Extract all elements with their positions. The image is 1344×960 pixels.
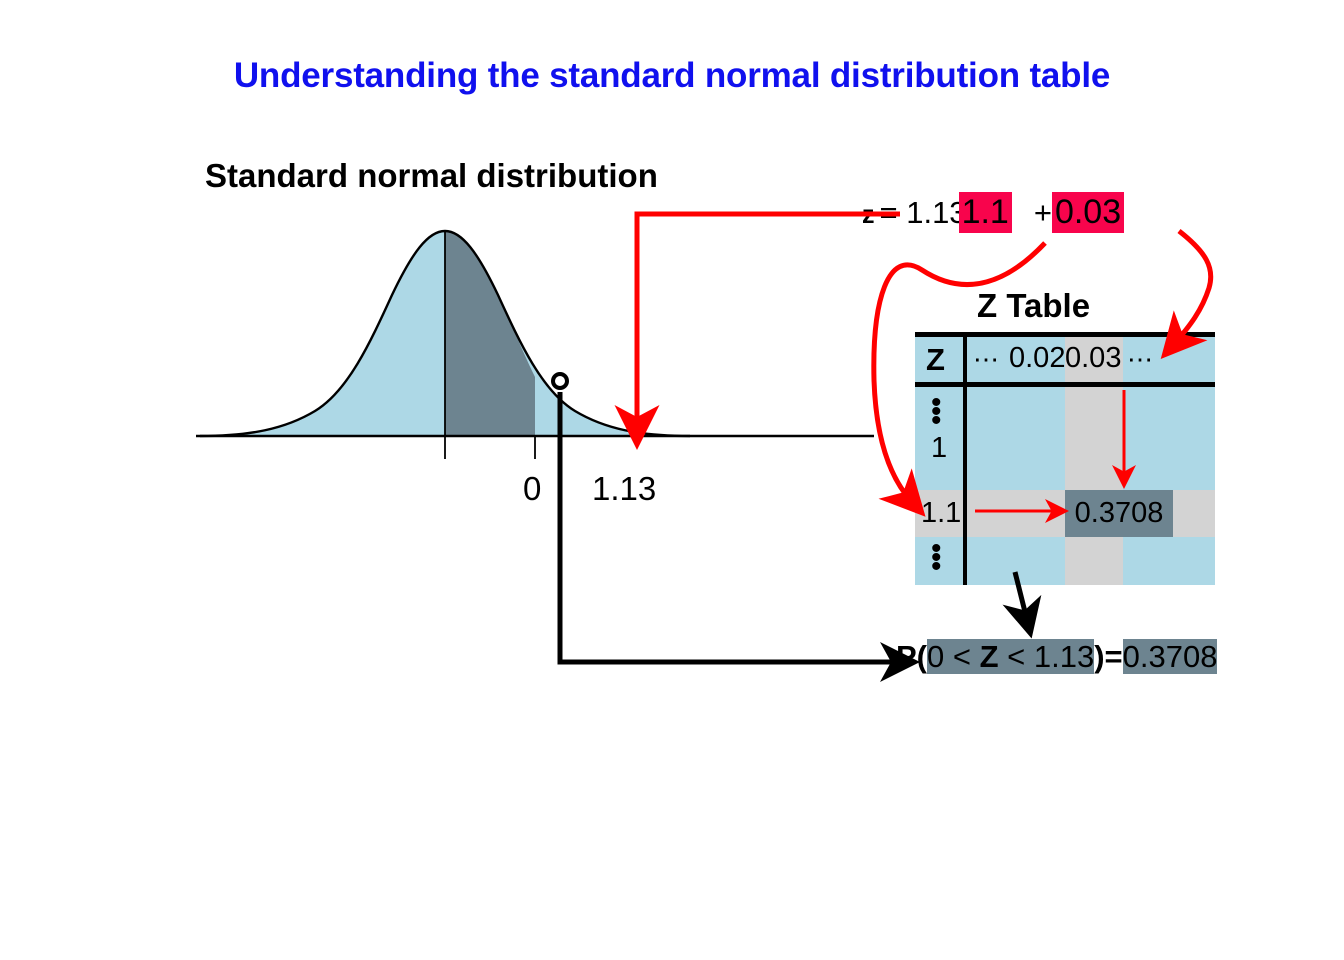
prob-inner-z: Z bbox=[980, 639, 999, 674]
table-vertical-rule bbox=[963, 332, 967, 585]
table-header-rule bbox=[915, 382, 1215, 387]
z-table: Z ⋯ 0.02 0.03 ⋯ ••• 1 1.1 ••• 0.3708 bbox=[915, 332, 1215, 585]
axis-tick-label-z: 1.13 bbox=[592, 470, 656, 508]
table-row-label-11: 1.1 bbox=[921, 497, 961, 530]
z-decomposition: z = 1.13 1.1 + 0.03 bbox=[862, 192, 1124, 233]
prob-result: 0.3708 bbox=[1123, 639, 1218, 674]
table-header-col-003: 0.03 bbox=[1065, 342, 1121, 375]
table-row-label-1: 1 bbox=[931, 432, 947, 465]
ztable-title: Z Table bbox=[977, 287, 1090, 325]
table-row-ellipsis-bottom: ••• bbox=[931, 544, 942, 571]
shaded-region-0-to-z bbox=[445, 231, 535, 436]
z-equation: = 1.13 bbox=[880, 195, 967, 231]
bell-curve-svg bbox=[190, 215, 880, 465]
plus-sign: + bbox=[1034, 195, 1052, 231]
prob-inner-low: 0 < bbox=[927, 639, 980, 674]
probability-statement: P(0 < Z < 1.13)=0.3708 bbox=[896, 639, 1217, 675]
prob-inner-high: < 1.13 bbox=[999, 639, 1095, 674]
prob-close-paren: ) bbox=[1094, 639, 1104, 674]
red-curved-arrow-column bbox=[1174, 231, 1211, 344]
table-top-rule bbox=[915, 332, 1215, 337]
table-row-ellipsis-top: ••• bbox=[931, 398, 942, 425]
prob-equals: = bbox=[1105, 639, 1123, 674]
table-header-right-ellipsis: ⋯ bbox=[1127, 344, 1153, 375]
normal-distribution-chart bbox=[190, 215, 880, 465]
prob-p-open: P( bbox=[896, 639, 927, 674]
table-header-corner: Z bbox=[926, 342, 945, 378]
axis-tick-label-mean: 0 bbox=[523, 470, 541, 508]
col-part-highlight: 0.03 bbox=[1052, 192, 1124, 233]
chart-title: Standard normal distribution bbox=[205, 157, 658, 195]
table-header-left-ellipsis: ⋯ bbox=[973, 344, 999, 375]
ztable-lookup-value: 0.3708 bbox=[1065, 490, 1173, 537]
table-header-col-002: 0.02 bbox=[1009, 342, 1065, 375]
page-title: Understanding the standard normal distri… bbox=[0, 56, 1344, 96]
z-symbol: z bbox=[862, 201, 875, 230]
row-part-highlight: 1.1 bbox=[959, 192, 1012, 233]
